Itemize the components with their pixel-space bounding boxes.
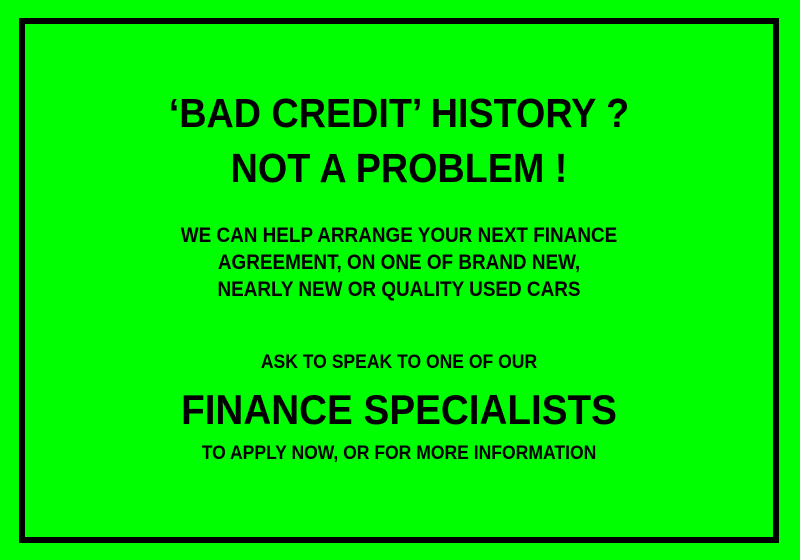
finance-specialists-block: FINANCE SPECIALISTS [25,386,773,434]
poster-canvas: ‘BAD CREDIT’ HISTORY ? NOT A PROBLEM ! W… [0,0,800,560]
footer-call-to-action: TO APPLY NOW, OR FOR MORE INFORMATION [62,441,735,465]
body-line-1: WE CAN HELP ARRANGE YOUR NEXT FINANCE [62,222,735,249]
call-to-action-prompt-block: ASK TO SPEAK TO ONE OF OUR [25,350,773,374]
body-line-2: AGREEMENT, ON ONE OF BRAND NEW, [62,249,735,276]
poster-content: ‘BAD CREDIT’ HISTORY ? NOT A PROBLEM ! W… [25,24,773,537]
headline-line-1: ‘BAD CREDIT’ HISTORY ? [55,86,743,141]
call-to-action-prompt: ASK TO SPEAK TO ONE OF OUR [62,350,735,374]
body-text-block: WE CAN HELP ARRANGE YOUR NEXT FINANCE AG… [25,222,773,303]
headline-line-2: NOT A PROBLEM ! [55,141,743,196]
body-line-3: NEARLY NEW OR QUALITY USED CARS [62,276,735,303]
footer-block: TO APPLY NOW, OR FOR MORE INFORMATION [25,441,773,465]
finance-specialists-heading: FINANCE SPECIALISTS [55,386,743,434]
headline-block: ‘BAD CREDIT’ HISTORY ? NOT A PROBLEM ! [25,86,773,196]
